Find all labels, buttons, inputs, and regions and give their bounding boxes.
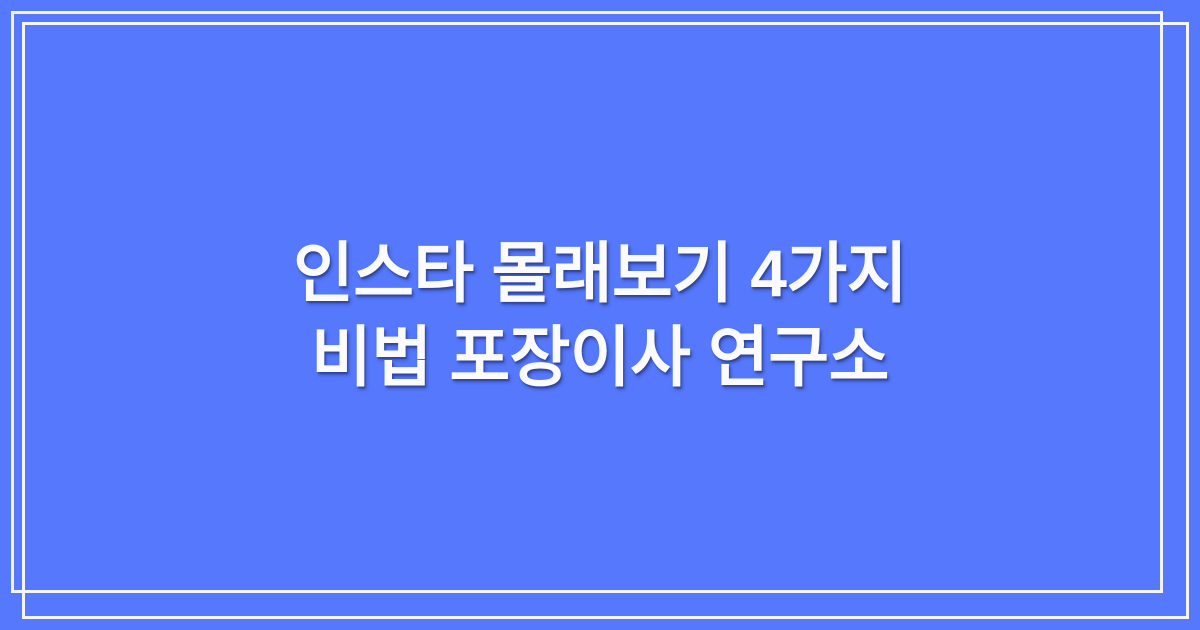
page-title: 인스타 몰래보기 4가지 비법 포장이사 연구소 (223, 231, 977, 400)
headline-container: 인스타 몰래보기 4가지 비법 포장이사 연구소 (0, 0, 1200, 630)
thumbnail-card: 인스타 몰래보기 4가지 비법 포장이사 연구소 (0, 0, 1200, 630)
